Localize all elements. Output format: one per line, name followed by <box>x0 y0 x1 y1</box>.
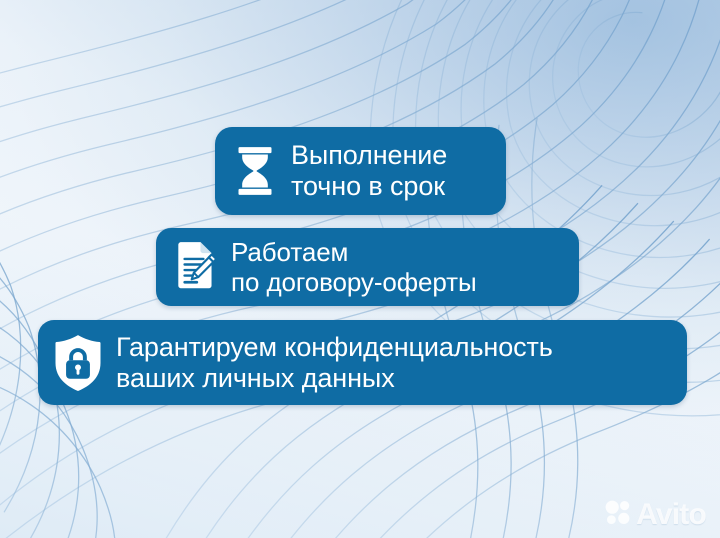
badge-deadline: Выполнение точно в срок <box>215 127 506 215</box>
badge-privacy-line-2: ваших личных данных <box>116 363 553 394</box>
badge-privacy-text: Гарантируем конфиденциальность ваших лич… <box>116 332 553 394</box>
shield-lock-icon <box>51 332 105 394</box>
badge-deadline-line-1: Выполнение <box>291 140 447 171</box>
badge-contract: Работаем по договору-оферты <box>156 228 579 306</box>
badge-contract-line-1: Работаем <box>231 237 477 267</box>
badge-privacy-line-1: Гарантируем конфиденциальность <box>116 332 553 363</box>
badge-deadline-line-2: точно в срок <box>291 171 447 202</box>
badge-privacy: Гарантируем конфиденциальность ваших лич… <box>38 320 687 405</box>
badge-contract-text: Работаем по договору-оферты <box>231 237 477 297</box>
badge-deadline-text: Выполнение точно в срок <box>291 140 447 202</box>
badge-contract-line-2: по договору-оферты <box>231 267 477 297</box>
feature-badge-group: Выполнение точно в срок <box>0 0 720 538</box>
document-pencil-icon <box>168 239 220 295</box>
banner-canvas: Выполнение точно в срок <box>0 0 720 538</box>
hourglass-icon <box>230 143 280 199</box>
